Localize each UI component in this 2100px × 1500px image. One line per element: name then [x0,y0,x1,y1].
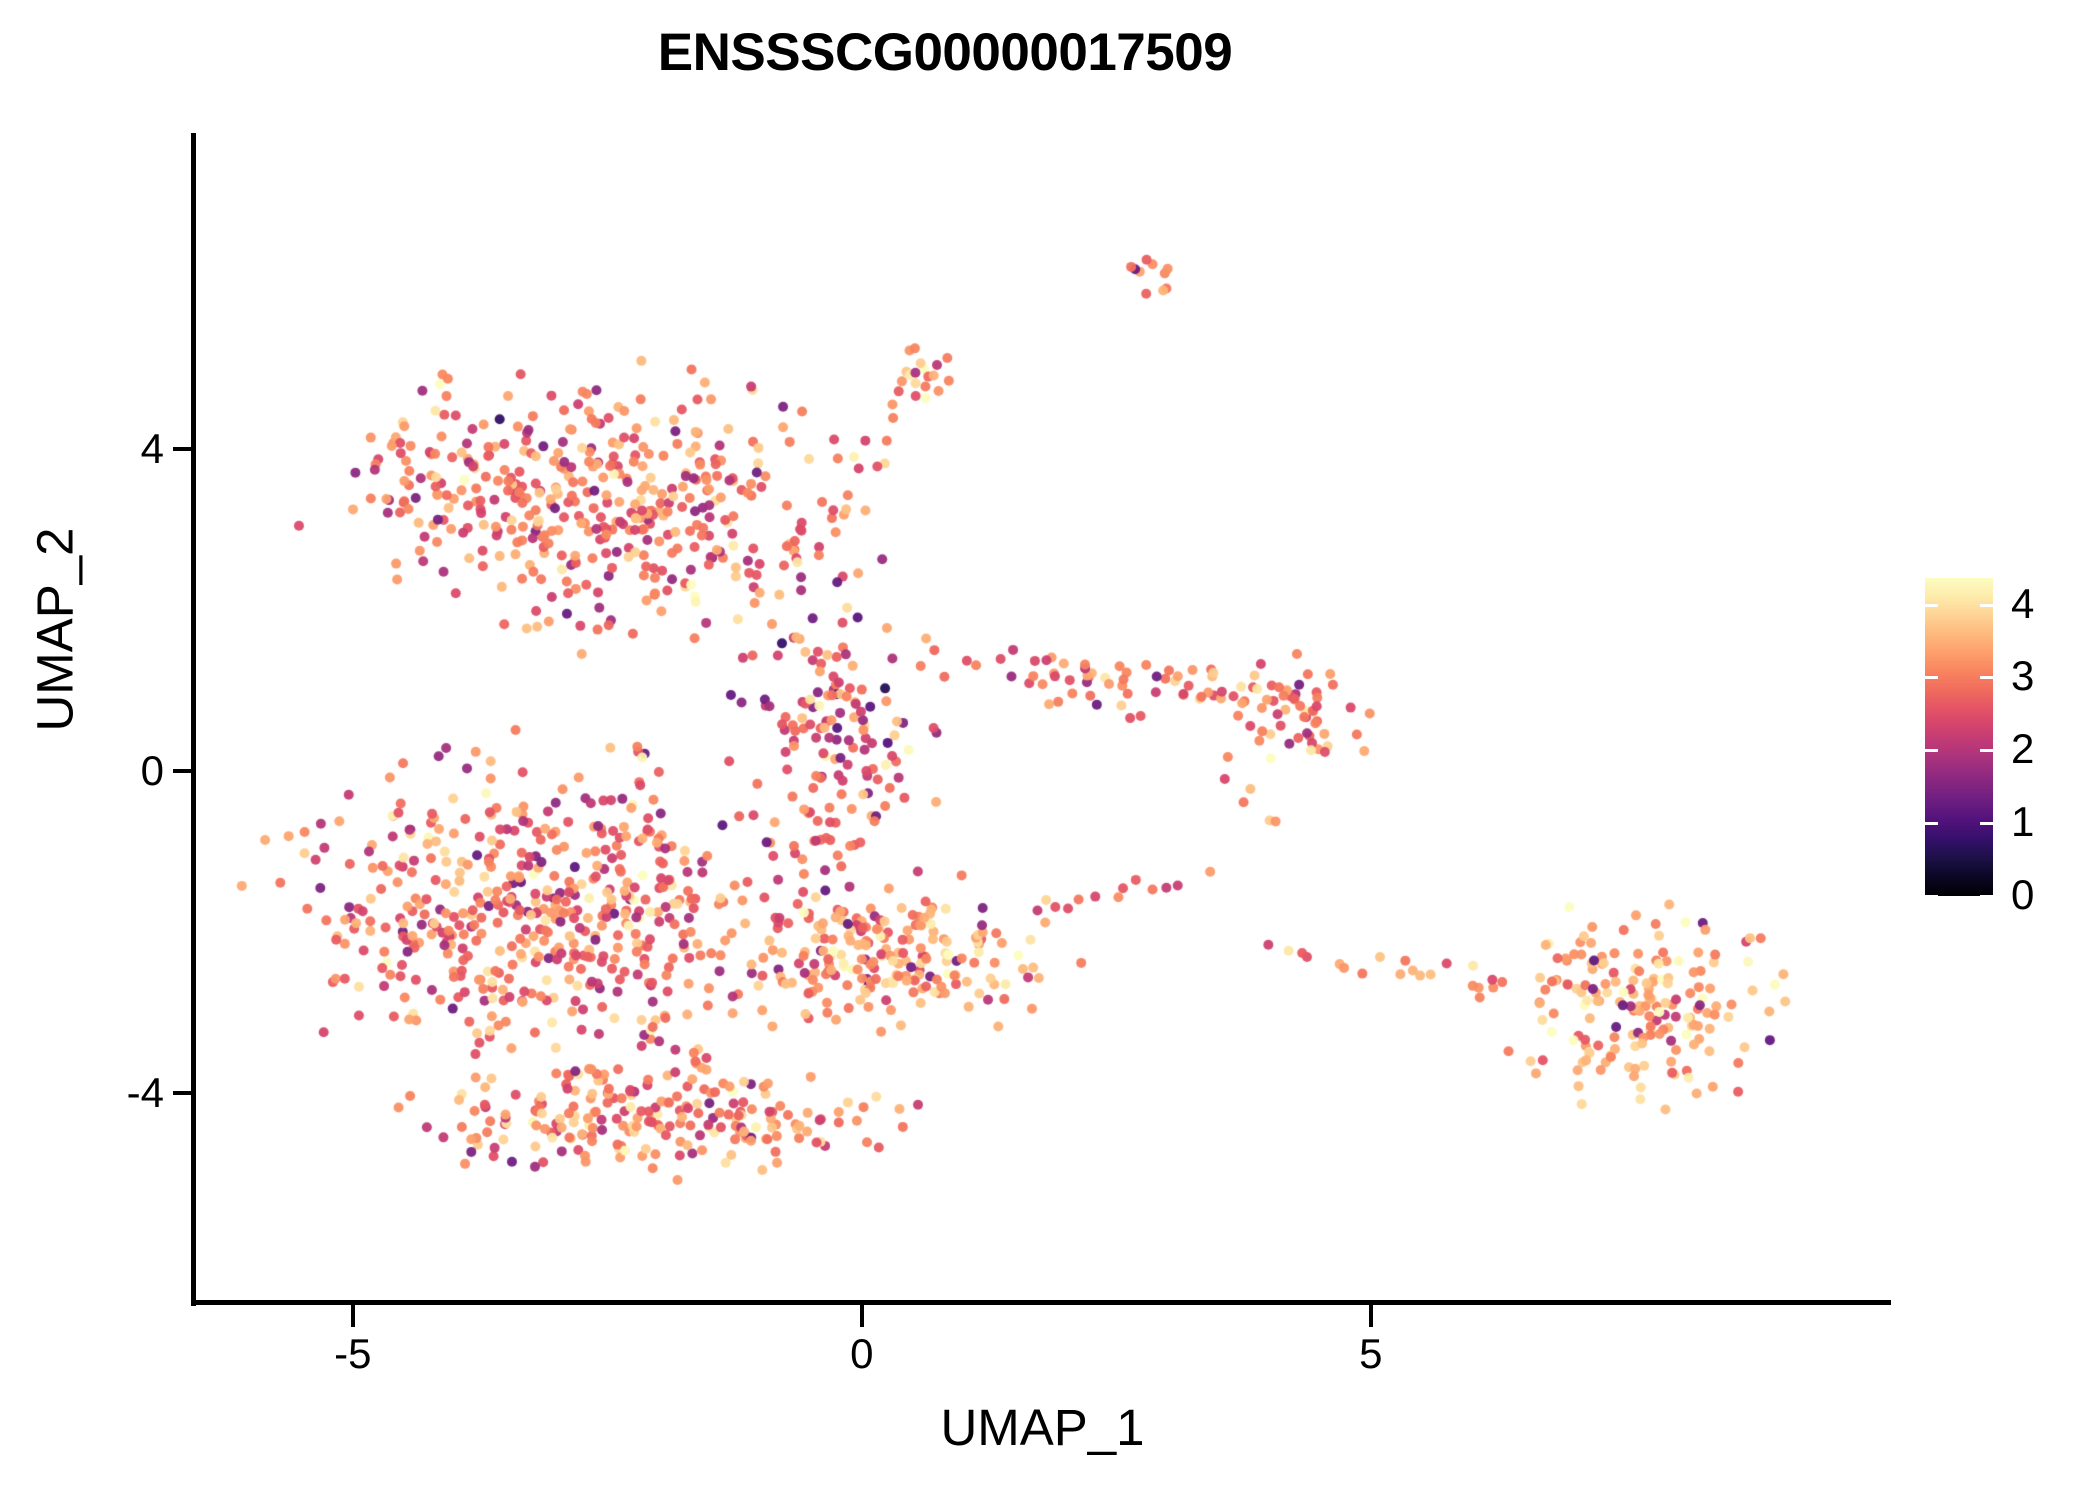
scatter-points-layer [195,135,1890,1302]
colorbar-tick [1925,895,1938,898]
colorbar-tick [1980,822,1993,825]
x-axis-tick-mark [351,1305,355,1327]
colorbar-tick [1925,822,1938,825]
y-axis-tick-mark [173,1091,195,1095]
x-axis-tick-mark [1369,1305,1373,1327]
colorbar-label: 0 [2011,874,2034,916]
y-axis-tick-mark [173,447,195,451]
colorbar-tick [1980,604,1993,607]
colorbar-label: 4 [2011,583,2034,625]
x-axis-tick-label: -5 [293,1333,413,1375]
x-axis-tick-label: 0 [802,1333,922,1375]
y-axis-tick-mark [173,769,195,773]
x-axis-title: UMAP_1 [195,1398,1890,1457]
colorbar-label: 3 [2011,655,2034,697]
colorbar-tick [1925,676,1938,679]
colorbar-tick [1925,749,1938,752]
scatter-plot-panel [195,135,1890,1302]
colorbar-tick [1925,604,1938,607]
x-axis-tick-mark [860,1305,864,1327]
colorbar-label: 2 [2011,728,2034,770]
colorbar-label: 1 [2011,801,2034,843]
plot-root: ENSSSCG00000017509 -4 0 4 -5 0 5 UMAP_1 … [0,0,2100,1500]
colorbar-tick [1980,749,1993,752]
y-axis-tick-label: -4 [127,1072,164,1114]
x-axis-tick-label: 5 [1311,1333,1431,1375]
y-axis-line [191,133,196,1306]
colorbar-tick [1980,895,1993,898]
y-axis-title: UMAP_2 [26,470,85,790]
y-axis-tick-label: 0 [141,750,164,792]
x-axis-line [191,1300,1891,1305]
y-axis-tick-label: 4 [141,428,164,470]
colorbar-tick [1980,676,1993,679]
color-legend: 4 3 2 1 0 [1925,578,2085,898]
colorbar-gradient [1925,578,1993,896]
page-title: ENSSSCG00000017509 [0,22,1890,83]
